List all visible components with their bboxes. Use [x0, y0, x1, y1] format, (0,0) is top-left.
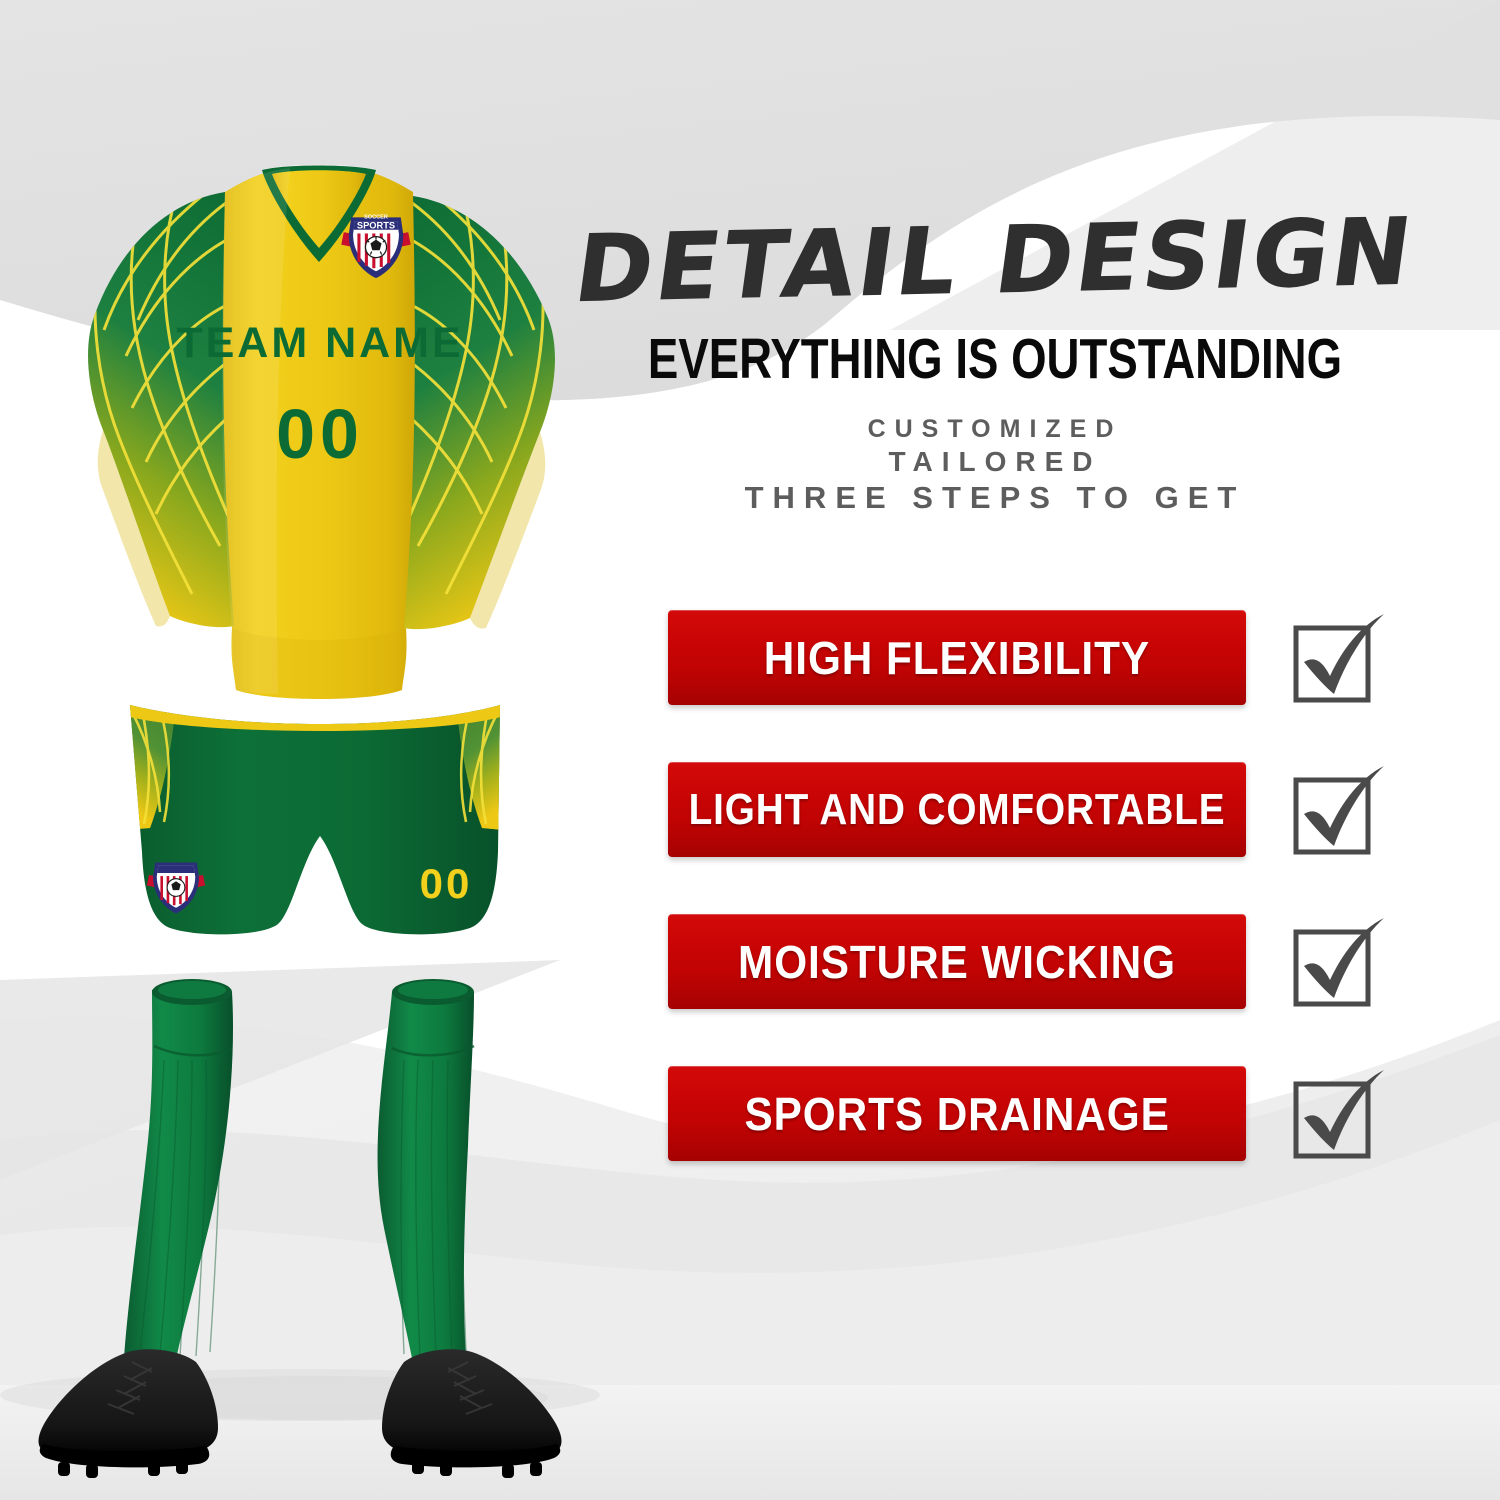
checkbox-checked-icon[interactable] — [1280, 914, 1390, 1014]
feature-badge-moisture-wicking[interactable]: MOISTURE WICKING — [668, 914, 1246, 1009]
tagline-1: CUSTOMIZED — [545, 414, 1445, 445]
poster-canvas: TEAM NAME 00 SOCCER SPORTS — [0, 0, 1500, 1500]
page-subtitle: EVERYTHING IS OUTSTANDING — [635, 331, 1355, 388]
shorts-number: 00 — [420, 860, 473, 907]
feature-label: HIGH FLEXIBILITY — [764, 631, 1150, 685]
feature-row: HIGH FLEXIBILITY — [668, 610, 1428, 762]
jersey-number: 00 — [276, 395, 364, 473]
socks — [124, 979, 474, 1366]
checkbox-checked-icon[interactable] — [1280, 762, 1390, 862]
tagline-group: CUSTOMIZED TAILORED THREE STEPS TO GET — [545, 414, 1445, 516]
product-mockup: TEAM NAME 00 SOCCER SPORTS — [0, 0, 640, 1500]
feature-list: HIGH FLEXIBILITY LIGHT AND COMFORTABLE M… — [668, 610, 1428, 1218]
feature-row: SPORTS DRAINAGE — [668, 1066, 1428, 1218]
feature-label: MOISTURE WICKING — [738, 935, 1176, 989]
feature-row: MOISTURE WICKING — [668, 914, 1428, 1066]
checkbox-checked-icon[interactable] — [1280, 1066, 1390, 1166]
feature-label: LIGHT AND COMFORTABLE — [689, 785, 1226, 835]
feature-badge-high-flexibility[interactable]: HIGH FLEXIBILITY — [668, 610, 1246, 705]
page-title: DETAIL DESIGN — [537, 206, 1452, 317]
svg-text:SPORTS: SPORTS — [357, 221, 395, 231]
title-wrap: DETAIL DESIGN — [545, 215, 1445, 327]
svg-text:SOCCER: SOCCER — [364, 215, 388, 221]
feature-row: LIGHT AND COMFORTABLE — [668, 762, 1428, 914]
feature-badge-sports-drainage[interactable]: SPORTS DRAINAGE — [668, 1066, 1246, 1161]
tagline-3: THREE STEPS TO GET — [545, 479, 1445, 517]
feature-badge-light-and-comfortable[interactable]: LIGHT AND COMFORTABLE — [668, 762, 1246, 857]
tagline-2: TAILORED — [545, 445, 1445, 479]
feature-label: SPORTS DRAINAGE — [744, 1087, 1169, 1141]
checkbox-checked-icon[interactable] — [1280, 610, 1390, 710]
jersey-team-name: TEAM NAME — [176, 319, 463, 367]
headline-block: DETAIL DESIGN EVERYTHING IS OUTSTANDING … — [545, 215, 1445, 516]
